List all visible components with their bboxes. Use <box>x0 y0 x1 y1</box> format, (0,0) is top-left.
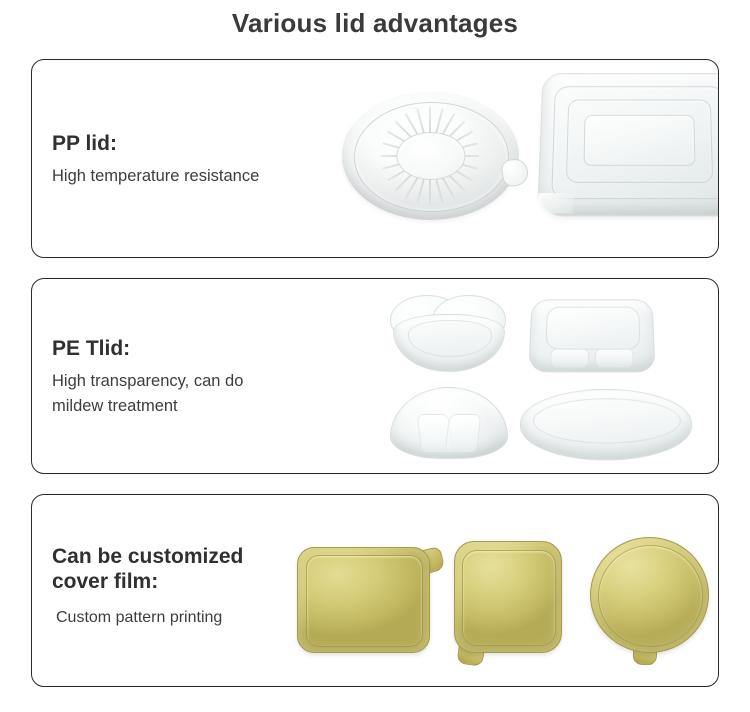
gold-rectangular-cover-film-inner-edge <box>306 555 423 646</box>
rectangular-pp-lid-ridge-inner <box>584 115 695 166</box>
dome-pe-lid-body <box>390 387 508 459</box>
panel-pe-lid-images <box>332 279 718 473</box>
panel-pp-lid-description: High temperature resistance <box>52 164 259 190</box>
panel-cover-film-images <box>332 495 718 686</box>
panel-cover-film-text: Can be customized cover film: Custom pat… <box>52 545 243 630</box>
square-pe-lid-body <box>528 299 655 372</box>
panel-pp-lid-heading: PP lid: <box>52 132 259 157</box>
dome-pe-lid-facet-right <box>445 414 482 452</box>
oval-pe-lid-body <box>518 389 694 461</box>
panel-pe-lid: PE Tlid: High transparency, can do milde… <box>31 278 719 474</box>
square-pe-lid-top-panel <box>545 307 641 350</box>
panel-pe-lid-text: PE Tlid: High transparency, can do milde… <box>52 337 243 420</box>
round-pp-lid-center <box>396 132 465 180</box>
heart-pe-lid-body <box>393 314 504 372</box>
panel-pp-lid-text: PP lid: High temperature resistance <box>52 132 259 189</box>
gold-round-cover-film-inner-edge <box>598 545 703 647</box>
product-image-gold-rectangular-cover-film <box>297 547 430 653</box>
panel-cover-film: Can be customized cover film: Custom pat… <box>31 494 719 687</box>
product-image-round-pp-lid <box>342 92 519 220</box>
square-pe-lid-notch-right <box>595 349 634 367</box>
page-title: Various lid advantages <box>0 8 750 39</box>
oval-pe-lid-inner-ridge <box>532 399 682 444</box>
rectangular-pp-lid-corner <box>538 193 573 214</box>
product-image-oval-pe-lid <box>518 389 694 461</box>
product-image-gold-square-cover-film <box>454 541 562 653</box>
product-image-rectangular-pp-lid <box>537 73 719 216</box>
panel-pe-lid-heading: PE Tlid: <box>52 337 243 362</box>
gold-square-cover-film-body <box>454 541 562 653</box>
panel-cover-film-description: Custom pattern printing <box>52 606 243 631</box>
gold-square-cover-film-inner-edge <box>462 550 555 647</box>
product-image-dome-pe-lid <box>390 387 508 459</box>
heart-pe-lid-inner-ridge <box>408 320 493 357</box>
panel-pp-lid-images <box>332 60 718 257</box>
panel-cover-film-heading: Can be customized cover film: <box>52 545 243 595</box>
round-pp-lid-tab <box>500 157 530 187</box>
rectangular-pp-lid-body <box>537 73 719 216</box>
product-image-heart-pe-lid <box>390 295 506 373</box>
panel-pp-lid: PP lid: High temperature resistance <box>31 59 719 258</box>
gold-round-cover-film-body <box>590 537 709 653</box>
product-image-square-pe-lid <box>528 299 655 372</box>
product-image-gold-round-cover-film <box>590 537 709 653</box>
gold-rectangular-cover-film-body <box>297 547 430 653</box>
panel-pe-lid-description: High transparency, can do mildew treatme… <box>52 369 243 420</box>
square-pe-lid-notch-left <box>550 349 589 367</box>
